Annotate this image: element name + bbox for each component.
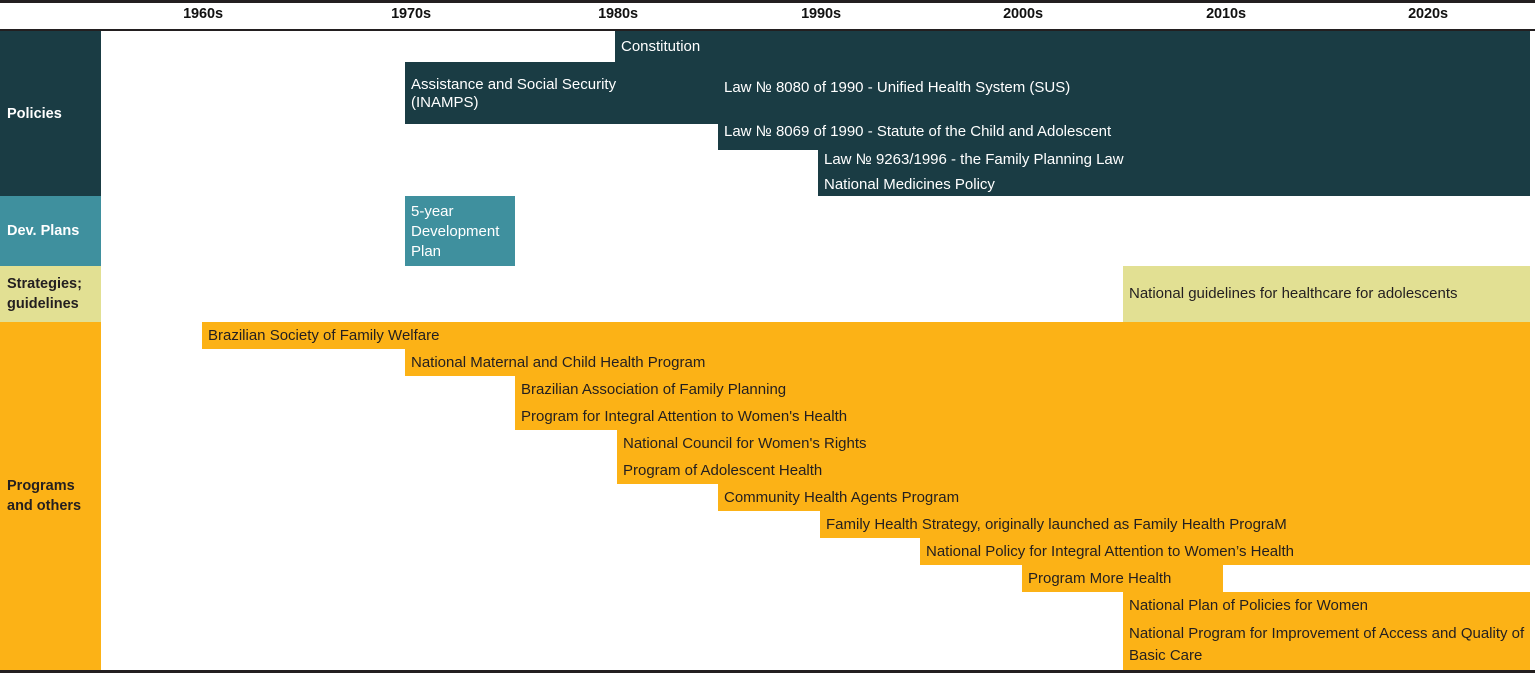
bar-label-brazilian-society-family-welfare: Brazilian Society of Family Welfare xyxy=(202,327,439,345)
decade-tick-2020s: 2020s xyxy=(1408,6,1448,22)
bar-label-brazilian-association-family-planning: Brazilian Association of Family Planning xyxy=(515,381,786,399)
bar-label-national-medicines-policy: National Medicines Policy xyxy=(818,176,995,194)
bar-label-inamps: Assistance and Social Security (INAMPS) xyxy=(405,76,646,112)
bar-label-national-guidelines-adolescents: National guidelines for healthcare for a… xyxy=(1123,285,1458,303)
bar-family-health-strategy[interactable]: Family Health Strategy, originally launc… xyxy=(820,511,1530,538)
bar-label-national-maternal-child-health-program: National Maternal and Child Health Progr… xyxy=(405,354,705,372)
axis-rule-top xyxy=(0,0,1535,3)
bar-national-policy-integral-attention-womens-health[interactable]: National Policy for Integral Attention t… xyxy=(920,538,1530,565)
bar-law-8069[interactable]: Law № 8069 of 1990 - Statute of the Chil… xyxy=(718,118,1530,146)
decade-tick-1970s: 1970s xyxy=(391,6,431,22)
bar-label-program-integral-attention-womens-health: Program for Integral Attention to Women'… xyxy=(515,408,847,426)
decade-tick-1960s: 1960s xyxy=(183,6,223,22)
bar-national-guidelines-adolescents[interactable]: National guidelines for healthcare for a… xyxy=(1123,266,1530,322)
bar-label-constitution: Constitution xyxy=(615,38,700,56)
policies-mask-row1 xyxy=(101,31,615,62)
decade-tick-1980s: 1980s xyxy=(598,6,638,22)
bar-label-family-health-strategy: Family Health Strategy, originally launc… xyxy=(820,516,1287,534)
bar-law-9263[interactable]: Law № 9263/1996 - the Family Planning La… xyxy=(818,146,1530,173)
bar-law-8080[interactable]: Law № 8080 of 1990 - Unified Health Syst… xyxy=(718,72,1530,104)
bar-label-national-program-improvement-access-quality: National Program for Improvement of Acce… xyxy=(1123,623,1529,667)
bar-label-national-plan-policies-women: National Plan of Policies for Women xyxy=(1123,597,1368,615)
bar-brazilian-association-family-planning[interactable]: Brazilian Association of Family Planning xyxy=(515,376,1530,403)
policies-mask-row4 xyxy=(101,150,818,196)
policies-mask-row3 xyxy=(101,124,718,150)
decade-tick-2010s: 2010s xyxy=(1206,6,1246,22)
bar-national-program-improvement-access-quality[interactable]: National Program for Improvement of Acce… xyxy=(1123,619,1530,670)
bar-brazilian-society-family-welfare[interactable]: Brazilian Society of Family Welfare xyxy=(202,322,1530,349)
bar-label-program-adolescent-health: Program of Adolescent Health xyxy=(617,462,822,480)
bar-program-adolescent-health[interactable]: Program of Adolescent Health xyxy=(617,457,1530,484)
decade-axis: 1960s 1970s 1980s 1990s 2000s 2010s 2020… xyxy=(0,0,1535,31)
category-label-programs: Programs and others xyxy=(0,476,101,516)
category-dev-plans: Dev. Plans xyxy=(0,196,101,266)
policies-mask-row2 xyxy=(101,62,405,124)
bottom-rule xyxy=(0,670,1535,673)
bar-label-law-8069: Law № 8069 of 1990 - Statute of the Chil… xyxy=(718,123,1111,141)
decade-tick-2000s: 2000s xyxy=(1003,6,1043,22)
category-policies: Policies xyxy=(0,31,101,196)
bar-label-5-year-development-plan: 5-year Development Plan xyxy=(405,202,515,263)
timeline-chart: 1960s 1970s 1980s 1990s 2000s 2010s 2020… xyxy=(0,0,1535,675)
category-programs: Programs and others xyxy=(0,322,101,670)
bar-program-more-health[interactable]: Program More Health xyxy=(1022,565,1223,592)
bar-label-law-8080: Law № 8080 of 1990 - Unified Health Syst… xyxy=(718,79,1070,97)
bar-label-national-policy-integral-attention-womens-health: National Policy for Integral Attention t… xyxy=(920,543,1294,561)
bar-label-program-more-health: Program More Health xyxy=(1022,570,1171,588)
bar-national-council-womens-rights[interactable]: National Council for Women's Rights xyxy=(617,430,1530,457)
category-strategies: Strategies; guidelines xyxy=(0,266,101,322)
bar-label-law-9263: Law № 9263/1996 - the Family Planning La… xyxy=(818,151,1124,169)
bar-national-maternal-child-health-program[interactable]: National Maternal and Child Health Progr… xyxy=(405,349,1530,376)
category-label-policies: Policies xyxy=(0,104,62,124)
category-label-strategies: Strategies; guidelines xyxy=(0,274,101,314)
right-margin xyxy=(1530,31,1535,670)
bar-label-community-health-agents-program: Community Health Agents Program xyxy=(718,489,959,507)
decade-tick-1990s: 1990s xyxy=(801,6,841,22)
bar-5-year-development-plan[interactable]: 5-year Development Plan xyxy=(405,196,515,266)
bar-program-integral-attention-womens-health[interactable]: Program for Integral Attention to Women'… xyxy=(515,403,1530,430)
category-label-dev-plans: Dev. Plans xyxy=(0,221,79,241)
bar-community-health-agents-program[interactable]: Community Health Agents Program xyxy=(718,484,1530,511)
bar-national-medicines-policy[interactable]: National Medicines Policy xyxy=(818,173,1530,196)
bar-label-national-council-womens-rights: National Council for Women's Rights xyxy=(617,435,867,453)
bar-constitution[interactable]: Constitution xyxy=(615,31,1530,62)
bar-national-plan-policies-women[interactable]: National Plan of Policies for Women xyxy=(1123,592,1530,619)
